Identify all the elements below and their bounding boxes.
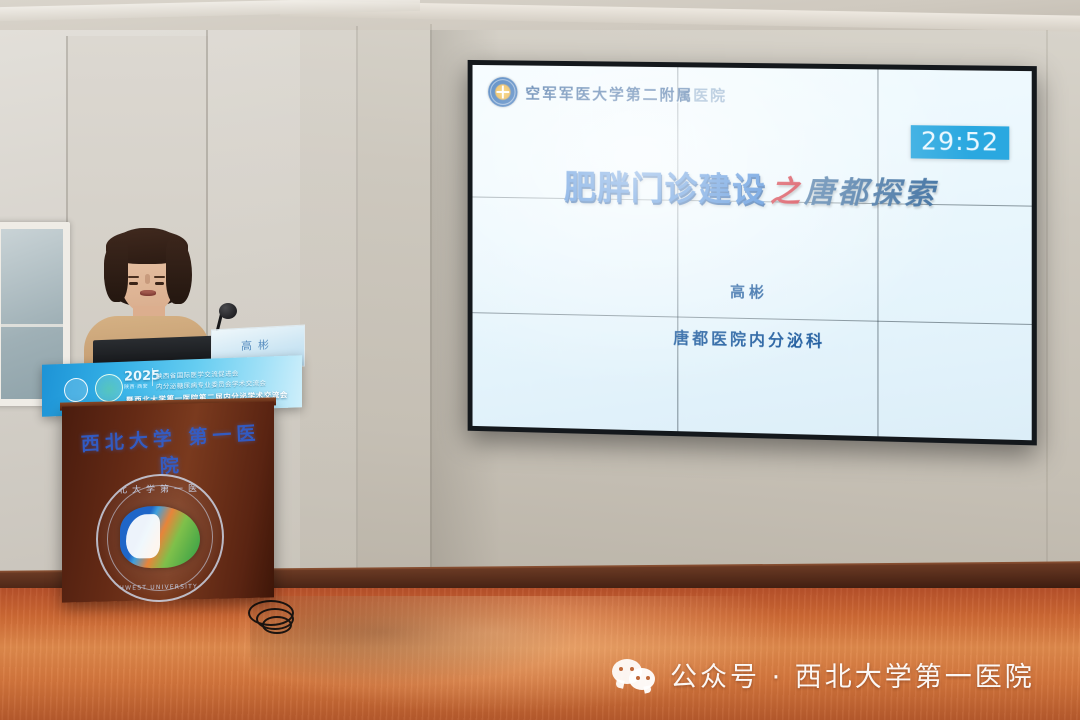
presenter-eye-right [155,282,164,285]
wall-seam-3 [356,26,358,590]
presenter-mouth [140,290,156,296]
presenter-hair-right [166,240,192,304]
microphone-icon [219,303,237,319]
wechat-dot-3 [636,676,640,680]
slide-header-main: 空军军医大学第二附属 [525,84,693,104]
presenter-brow-right [154,276,165,278]
watermark: 公众号 · 西北大学第一医院 [612,655,1035,694]
wechat-dot-4 [646,676,650,680]
slide-title-red: 之 [770,174,800,210]
slide-header-fade: 医院 [693,86,727,104]
countdown-timer: 29:52 [911,125,1010,160]
wall-seam-5 [1046,30,1048,590]
slide-title: 肥胖门诊建设之唐都探索 [473,159,1032,216]
video-wall-seam-v1 [677,67,678,431]
seal-chinese-text: 西北大学第一医院 [98,481,222,497]
screenshot-root: 空军军医大学第二附属医院 肥胖门诊建设之唐都探索 高彬 唐都医院内分泌科 29:… [0,0,1080,720]
video-wall-seam-v2 [877,69,878,436]
window-pane-divider [1,324,63,327]
floor-cable-3 [262,616,292,634]
presenter-eye-left [129,282,138,285]
wechat-icon [612,659,656,691]
presenter-nose [145,274,150,284]
university-emblem-icon [488,77,517,107]
presenter-brow-left [128,276,139,278]
screen-glare [473,65,1032,440]
slide-speaker-affiliation: 唐都医院内分泌科 [473,320,1032,356]
hospital-seal-logo: 西北大学第一医院 NORTHWEST UNIVERSITY FIRST HOSP… [96,473,224,604]
wechat-bubble-front [629,668,655,690]
banner-divider [152,368,153,386]
banner-city: 陕西·西安 [124,383,148,391]
video-wall[interactable]: 空军军医大学第二附属医院 肥胖门诊建设之唐都探索 高彬 唐都医院内分泌科 29:… [468,60,1037,445]
watermark-text: 公众号 · 西北大学第一医院 [670,655,1035,694]
slide-header-text: 空军军医大学第二附属医院 [525,82,727,105]
emblem-ring [490,79,515,105]
slide-speaker-name: 高彬 [473,276,1032,308]
video-wall-screen: 空军军医大学第二附属医院 肥胖门诊建设之唐都探索 高彬 唐都医院内分泌科 29:… [473,65,1032,440]
slide-title-blue: 肥胖门诊建设 [564,167,766,209]
slide-title-gray: 唐都探索 [804,175,937,212]
wechat-dot-1 [619,667,623,671]
wechat-dot-2 [630,667,634,671]
confidence-monitor-text: 高彬 [212,335,304,356]
presenter-hair-left [104,240,128,302]
slide-header: 空军军医大学第二附属医院 [488,77,727,110]
